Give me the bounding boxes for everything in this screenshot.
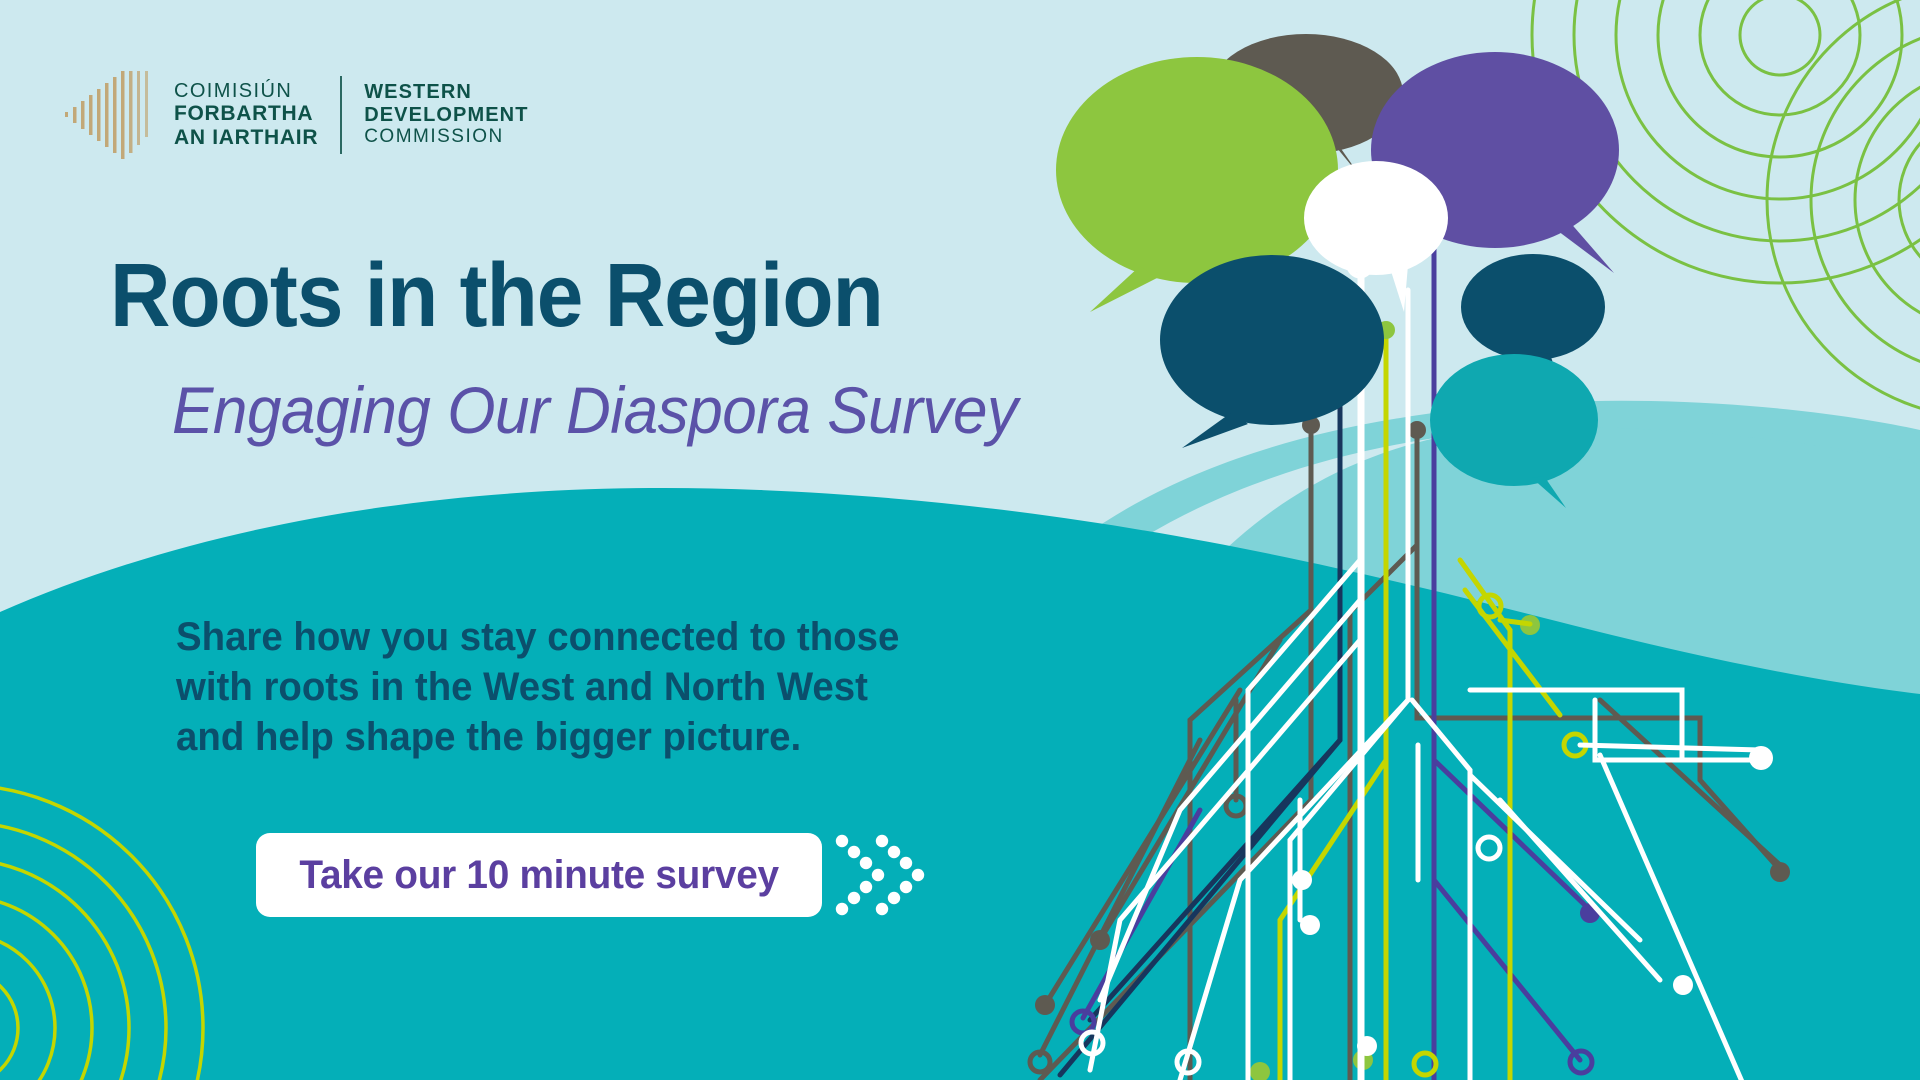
logo-irish-line-2: FORBARTHA [174,102,318,126]
page-subtitle: Engaging Our Diaspora Survey [172,372,1018,448]
speech-bubble-navy [1160,255,1384,448]
body-copy-line-2: with roots in the West and North West [176,662,899,712]
page-title: Roots in the Region [110,245,883,348]
circuit-roots [1030,200,1790,1080]
take-survey-button[interactable]: Take our 10 minute survey [256,833,822,917]
wdc-logo[interactable]: COIMISIÚN FORBARTHA AN IARTHAIR WESTERN … [55,62,529,167]
wdc-triangle-mark-icon [55,62,160,167]
logo-divider [340,76,342,154]
logo-english-line-2: DEVELOPMENT [364,104,528,127]
logo-text-english: WESTERN DEVELOPMENT COMMISSION [364,81,528,148]
speech-bubble-teal [1430,354,1598,508]
logo-english-line-1: WESTERN [364,81,528,104]
logo-irish-line-1: COIMISIÚN [174,80,318,102]
body-copy-line-3: and help shape the bigger picture. [176,712,899,762]
body-copy: Share how you stay connected to those wi… [176,612,899,762]
logo-text-irish: COIMISIÚN FORBARTHA AN IARTHAIR [174,80,318,149]
logo-english-line-3: COMMISSION [364,126,528,148]
logo-irish-line-3: AN IARTHAIR [174,126,318,150]
body-copy-line-1: Share how you stay connected to those [176,612,899,662]
double-chevron-right-dots-icon[interactable] [830,825,940,925]
take-survey-button-label: Take our 10 minute survey [299,853,778,898]
promo-banner: COIMISIÚN FORBARTHA AN IARTHAIR WESTERN … [0,0,1920,1080]
